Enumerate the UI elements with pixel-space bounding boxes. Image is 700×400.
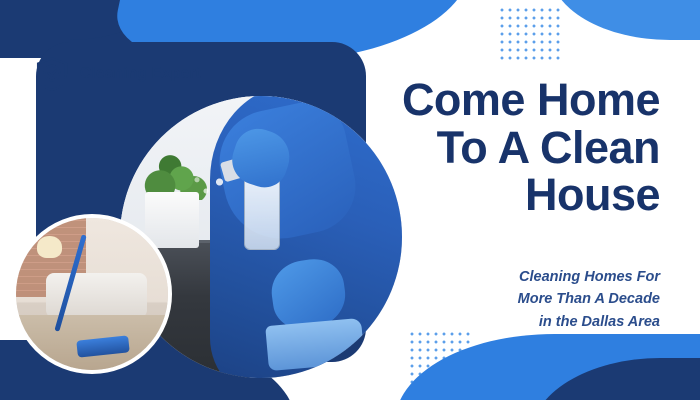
dot-grid-top-right [498, 6, 560, 62]
main-photo-cleaning-cloth [265, 318, 364, 371]
subheadline-line-1: Cleaning Homes For [360, 266, 660, 288]
page-title: Come Home To A Clean House [330, 76, 660, 219]
subheadline-line-2: More Than A Decade [360, 288, 660, 310]
shield-check-icon [34, 56, 70, 92]
brand-lockup: Cleaning Expert [34, 56, 201, 92]
brand-name: Cleaning Expert [80, 65, 201, 83]
main-photo-spray-mist [188, 164, 233, 209]
banner-canvas: Cleaning Expert Come Home To A Clean Hou… [0, 0, 700, 400]
headline-line-3: House [330, 171, 660, 219]
headline-line-2: To A Clean [330, 124, 660, 172]
small-photo [12, 214, 172, 374]
small-photo-lamp [37, 236, 61, 257]
top-right-blue-wedge-shape [550, 0, 700, 40]
subheadline: Cleaning Homes For More Than A Decade in… [360, 266, 660, 333]
headline-line-1: Come Home [330, 76, 660, 124]
subheadline-line-3: in the Dallas Area [360, 311, 660, 333]
